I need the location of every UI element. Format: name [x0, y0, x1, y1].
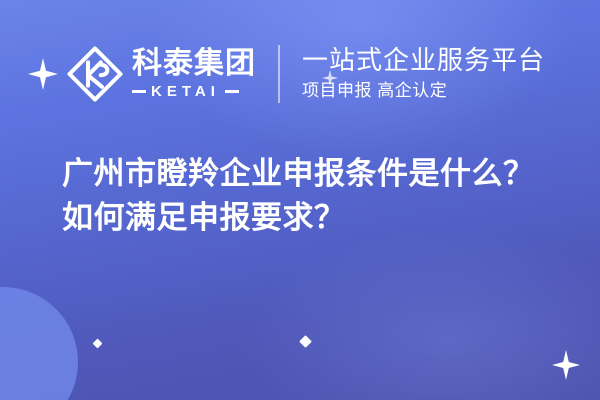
- header-divider: [278, 45, 280, 103]
- promo-banner: 科泰集团 KETAI 一站式企业服务平台 项目申报 高企认定 广州市瞪羚企业申报…: [0, 0, 600, 400]
- brand-name-cn: 科泰集团: [132, 48, 256, 80]
- ketai-diamond-monogram-logo-icon: [66, 45, 124, 103]
- diamond-dot-icon-bottom-left: [93, 339, 103, 349]
- logo-rule-left: [132, 90, 146, 93]
- circle-decoration-bottom-left: [0, 287, 78, 400]
- brand-name-en: KETAI: [151, 83, 220, 100]
- banner-header: 科泰集团 KETAI 一站式企业服务平台 项目申报 高企认定: [0, 36, 600, 112]
- headline-line-1: 广州市瞪羚企业申报条件是什么？: [62, 152, 562, 196]
- brand-name-en-row: KETAI: [132, 83, 256, 100]
- brand-logo-text: 科泰集团 KETAI: [132, 48, 256, 100]
- brand-logo: 科泰集团 KETAI: [66, 45, 256, 103]
- tagline-main: 一站式企业服务平台: [302, 46, 545, 75]
- headline-line-2: 如何满足申报要求？: [62, 196, 562, 240]
- tagline-sub: 项目申报 高企认定: [302, 80, 545, 102]
- banner-headline: 广州市瞪羚企业申报条件是什么？ 如何满足申报要求？: [62, 152, 562, 240]
- brand-tagline: 一站式企业服务平台 项目申报 高企认定: [302, 46, 545, 101]
- background-glow-middle: [240, 230, 600, 400]
- logo-rule-right: [225, 90, 239, 93]
